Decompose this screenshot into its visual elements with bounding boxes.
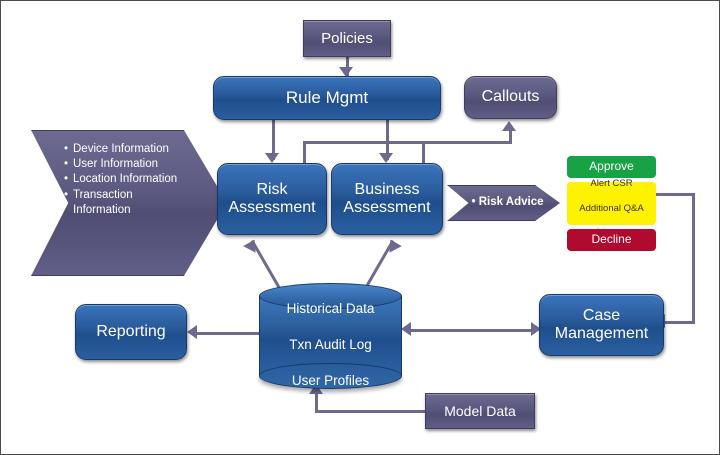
alert-line-2: Additional Q&A <box>579 203 643 214</box>
edge-datastore-case-line <box>410 329 534 332</box>
edge-bus-to-callouts-arrowhead <box>502 121 516 131</box>
edge-model-to-datastore-vertical <box>315 393 318 412</box>
node-datastore[interactable]: Historical Data Txn Audit Log User Profi… <box>259 283 402 389</box>
edge-datastore-case-arrowhead-left <box>401 322 411 336</box>
node-rule-mgmt[interactable]: Rule Mgmt <box>213 76 441 120</box>
node-decline-label: Decline <box>591 233 631 247</box>
list-item: Device Information <box>64 142 188 157</box>
node-callouts-label: Callouts <box>482 88 540 106</box>
node-risk-assessment-label: Risk Assessment <box>228 181 315 218</box>
node-model-data[interactable]: Model Data <box>425 393 535 429</box>
datastore-line-3: User Profiles <box>292 373 369 388</box>
inputs-item-0: Device Information <box>73 143 169 155</box>
edge-datastore-to-reporting-line <box>196 332 262 335</box>
edge-bus-horizontal <box>303 141 512 144</box>
inputs-item-3: Transaction Information <box>73 189 133 216</box>
diagram-canvas: Policies Rule Mgmt Callouts Device Infor… <box>0 0 720 455</box>
node-business-assessment-label: Business Assessment <box>343 181 430 218</box>
datastore-line-2: Txn Audit Log <box>289 337 372 352</box>
edge-alert-to-case-horizontal-bottom <box>664 321 695 324</box>
edge-bus-to-callouts-line <box>509 130 512 143</box>
inputs-item-1: User Information <box>73 158 158 170</box>
node-inputs-list: Device Information User Information Loca… <box>64 142 188 218</box>
list-item: Transaction Information <box>64 188 188 218</box>
node-risk-assessment[interactable]: Risk Assessment <box>217 163 327 235</box>
datastore-line-1: Historical Data <box>287 301 375 316</box>
inputs-item-2: Location Information <box>73 173 177 185</box>
edge-alert-to-case-vertical <box>692 193 695 323</box>
list-item: Location Information <box>64 172 188 187</box>
node-reporting[interactable]: Reporting <box>75 304 187 360</box>
node-case-management[interactable]: Case Management <box>539 294 664 356</box>
node-policies-label: Policies <box>321 30 373 47</box>
edge-datastore-to-reporting-arrowhead <box>187 325 197 339</box>
risk-advice-text: Risk Advice <box>479 196 544 208</box>
node-policies[interactable]: Policies <box>303 20 391 57</box>
node-rule-mgmt-label: Rule Mgmt <box>286 88 368 108</box>
edge-alert-to-case-horizontal-top <box>656 193 695 196</box>
node-callouts[interactable]: Callouts <box>464 76 557 119</box>
node-reporting-label: Reporting <box>96 323 165 341</box>
edge-rule-to-risk-arrowhead <box>265 153 279 163</box>
node-risk-advice-label: • Risk Advice <box>463 196 543 209</box>
edge-model-to-datastore-horizontal <box>315 410 429 413</box>
list-item: User Information <box>64 157 188 172</box>
alert-line-1: Alert CSR <box>590 178 632 189</box>
node-business-assessment[interactable]: Business Assessment <box>331 163 443 235</box>
node-risk-advice[interactable]: • Risk Advice <box>447 185 560 221</box>
edge-rule-to-business-arrowhead <box>379 153 393 163</box>
node-alert-csr[interactable]: Alert CSR Additional Q&A 2nd Channel <box>567 182 656 225</box>
node-case-management-label: Case Management <box>555 307 648 344</box>
node-model-data-label: Model Data <box>444 403 516 419</box>
node-datastore-label: Historical Data Txn Audit Log User Profi… <box>259 283 402 389</box>
node-decline[interactable]: Decline <box>567 229 656 251</box>
